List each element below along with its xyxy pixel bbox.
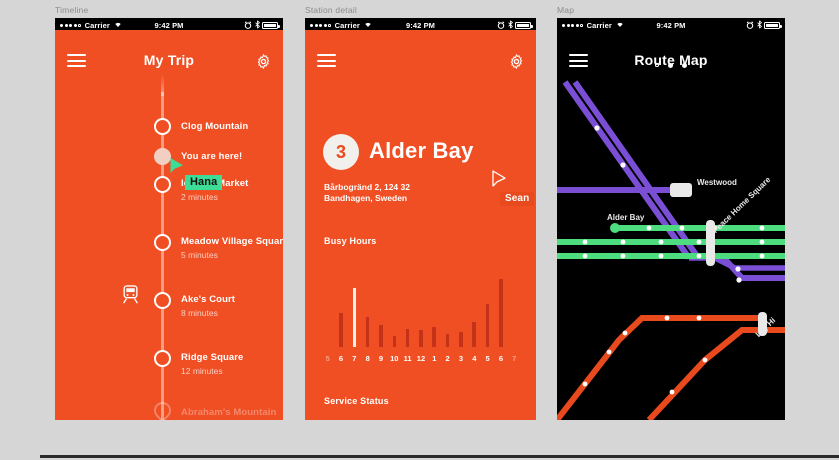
artboard-timeline: Timeline Carrier 9:42 PM	[55, 18, 283, 420]
cursor-arrow-icon	[169, 157, 185, 175]
timeline-stop-hitarea[interactable]	[145, 116, 283, 146]
chart-bar-column[interactable]	[468, 265, 481, 347]
navbar-timeline: My Trip	[55, 45, 283, 79]
chart-x-label: 10	[388, 354, 401, 363]
page-bottom-rule	[40, 455, 839, 458]
chart-bar-column[interactable]	[414, 265, 427, 347]
chart-bar	[366, 317, 370, 347]
map-label-alder-bay: Alder Bay	[607, 213, 644, 222]
chart-x-label: 7	[348, 354, 361, 363]
page-dot-2[interactable]	[668, 63, 673, 68]
chart-bar	[393, 336, 397, 347]
route-map-graphic[interactable]	[557, 30, 785, 420]
chart-bar	[486, 304, 490, 347]
chart-bar-column[interactable]	[441, 265, 454, 347]
artboard-station-detail: Station detail Carrier 9:42 PM	[305, 18, 536, 420]
chart-bars	[321, 265, 521, 347]
artboard-label-timeline: Timeline	[55, 5, 88, 15]
cursor-arrow-icon	[491, 170, 507, 188]
chart-bar-column[interactable]	[374, 265, 387, 347]
cursor-label-hana: Hana	[185, 175, 222, 190]
chart-x-label: 3	[454, 354, 467, 363]
chart-bar	[339, 313, 343, 347]
timeline-stop-hitarea[interactable]	[145, 290, 283, 320]
station-name: Alder Bay	[369, 138, 474, 164]
hamburger-menu-icon[interactable]	[317, 54, 336, 68]
chart-bar	[499, 279, 503, 347]
cursor-hana: Hana	[169, 157, 185, 180]
station-address-line1: Bårbogränd 2, 124 32	[324, 182, 410, 193]
chart-bar-column[interactable]	[334, 265, 347, 347]
chart-bar	[459, 332, 463, 347]
page-dot-1[interactable]	[655, 63, 659, 67]
chart-x-labels: 567891011121234567	[321, 354, 521, 363]
battery-icon	[764, 22, 780, 29]
alarm-icon	[244, 21, 252, 31]
artboard-label-map: Map	[557, 5, 574, 15]
screen-timeline: My Trip	[55, 30, 283, 420]
chart-bar-column[interactable]	[361, 265, 374, 347]
chart-bar-column[interactable]	[494, 265, 507, 347]
timeline-stop-hitarea[interactable]	[145, 232, 283, 262]
screenshot-canvas: Timeline Carrier 9:42 PM	[0, 0, 839, 460]
chart-x-label: 1	[428, 354, 441, 363]
chart-x-label: 6	[494, 354, 507, 363]
red-line	[557, 316, 785, 420]
chart-bar-column[interactable]	[321, 265, 334, 347]
chart-bar	[406, 329, 410, 347]
page-indicator-dots[interactable]	[557, 63, 785, 68]
navbar-route-map: Route Map	[557, 45, 785, 79]
chart-bar-column[interactable]	[428, 265, 441, 347]
gear-icon[interactable]	[509, 54, 524, 69]
green-line	[557, 223, 785, 258]
purple-line	[557, 82, 785, 283]
battery-icon	[515, 22, 531, 29]
chart-x-label: 2	[441, 354, 454, 363]
chart-x-label: 4	[468, 354, 481, 363]
alarm-icon	[497, 21, 505, 31]
timeline-stop-hitarea[interactable]	[145, 400, 283, 420]
chart-bar-column[interactable]	[454, 265, 467, 347]
station-marker-westwood	[670, 183, 692, 197]
chart-x-label: 12	[414, 354, 427, 363]
train-icon	[121, 285, 140, 305]
service-status-heading: Service Status	[324, 396, 389, 406]
timeline-stop-hitarea[interactable]	[145, 146, 283, 176]
screen-station-detail: 3 Alder Bay Bårbogränd 2, 124 32 Bandhag…	[305, 30, 536, 420]
chart-bar	[379, 325, 383, 347]
station-address-line2: Bandhagen, Sweden	[324, 193, 410, 204]
chart-bar	[353, 288, 357, 347]
busy-hours-heading: Busy Hours	[324, 236, 377, 246]
cursor-label-sean: Sean	[500, 192, 534, 206]
chart-x-label: 8	[361, 354, 374, 363]
chart-bar-column[interactable]	[481, 265, 494, 347]
gear-icon[interactable]	[256, 54, 271, 69]
battery-icon	[262, 22, 278, 29]
screen-route-map: Route Map Westwood Alder Bay Peace Home …	[557, 30, 785, 420]
chart-bar	[419, 330, 423, 347]
chart-bar	[432, 327, 436, 348]
chart-x-label: 5	[321, 354, 334, 363]
chart-bar-column[interactable]	[508, 265, 521, 347]
chart-x-label: 6	[334, 354, 347, 363]
chart-bar-column[interactable]	[388, 265, 401, 347]
chart-x-label: 11	[401, 354, 414, 363]
artboard-label-station-detail: Station detail	[305, 5, 357, 15]
busy-hours-chart: 567891011121234567	[321, 258, 521, 363]
chart-x-label: 5	[481, 354, 494, 363]
map-label-westwood: Westwood	[697, 178, 737, 187]
cursor-sean: Sean	[491, 170, 507, 193]
chart-bar-column[interactable]	[348, 265, 361, 347]
station-number-badge: 3	[323, 134, 359, 170]
navbar-station-detail	[305, 45, 536, 79]
chart-bar	[472, 322, 476, 347]
station-address: Bårbogränd 2, 124 32 Bandhagen, Sweden	[324, 182, 410, 204]
chart-bar	[446, 334, 450, 347]
chart-x-label: 7	[508, 354, 521, 363]
page-title: My Trip	[55, 52, 283, 68]
page-dot-3[interactable]	[682, 63, 687, 68]
alarm-icon	[746, 21, 754, 31]
chart-x-label: 9	[374, 354, 387, 363]
timeline-stop-hitarea[interactable]	[145, 348, 283, 378]
chart-bar-column[interactable]	[401, 265, 414, 347]
artboard-map: Map Carrier 9:42 PM	[557, 18, 785, 420]
